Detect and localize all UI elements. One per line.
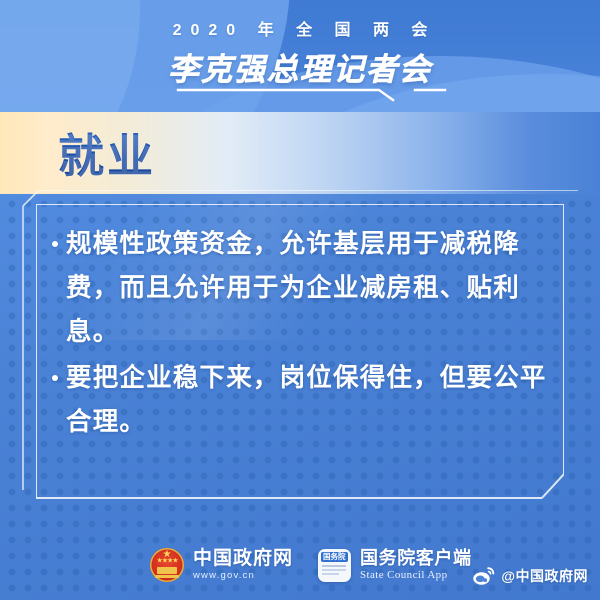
list-item-text: 要把企业稳下来，岗位保得住，但要公平合理。	[66, 356, 552, 444]
app-logo-name-en: State Council App	[360, 569, 472, 582]
page-title: 就业	[58, 112, 156, 194]
header-kicker: 2020 年 全 国 两 会	[0, 16, 600, 40]
app-logo-text: 国务院客户端 State Council App	[360, 548, 472, 582]
list-item-text: 规模性政策资金，允许基层用于减税降费，而且允许用于为企业减房租、贴利息。	[66, 222, 552, 354]
header-text-group: 2020 年 全 国 两 会 李克强总理记者会	[0, 0, 600, 89]
bullet-dot-icon	[52, 375, 58, 381]
list-item: 规模性政策资金，允许基层用于减税降费，而且允许用于为企业减房租、贴利息。	[52, 222, 552, 354]
header-banner: 2020 年 全 国 两 会 李克强总理记者会	[0, 0, 600, 112]
state-council-app-icon: 国务院	[318, 549, 351, 582]
angled-divider-line-icon	[0, 86, 600, 102]
weibo-handle: @中国政府网	[501, 566, 588, 586]
list-item: 要把企业稳下来，岗位保得住，但要公平合理。	[52, 356, 552, 444]
app-logo-name: 国务院客户端	[360, 548, 472, 568]
china-national-emblem-icon: ★ ★★★★	[150, 548, 184, 582]
header-title: 李克强总理记者会	[0, 44, 600, 89]
footer-bar: ★ ★★★★ 中国政府网 www.gov.cn 国务院 国务院客户端 State…	[0, 528, 600, 600]
weibo-icon	[472, 566, 496, 586]
bullet-list: 规模性政策资金，允许基层用于减税降费，而且允许用于为企业减房租、贴利息。 要把企…	[52, 222, 552, 446]
weibo-account[interactable]: @中国政府网	[472, 566, 588, 586]
bullet-dot-icon	[52, 241, 58, 247]
app-icon-label: 国务院	[321, 552, 348, 562]
gov-logo-text: 中国政府网 www.gov.cn	[193, 548, 293, 582]
gov-website-logo[interactable]: ★ ★★★★ 中国政府网 www.gov.cn	[150, 548, 293, 582]
poster-canvas: 2020 年 全 国 两 会 李克强总理记者会 就业 规模性政策资金，允许基层用…	[0, 0, 600, 600]
gov-logo-url: www.gov.cn	[193, 570, 293, 582]
gov-logo-name: 中国政府网	[193, 548, 293, 569]
state-council-app-logo[interactable]: 国务院 国务院客户端 State Council App	[318, 548, 472, 582]
